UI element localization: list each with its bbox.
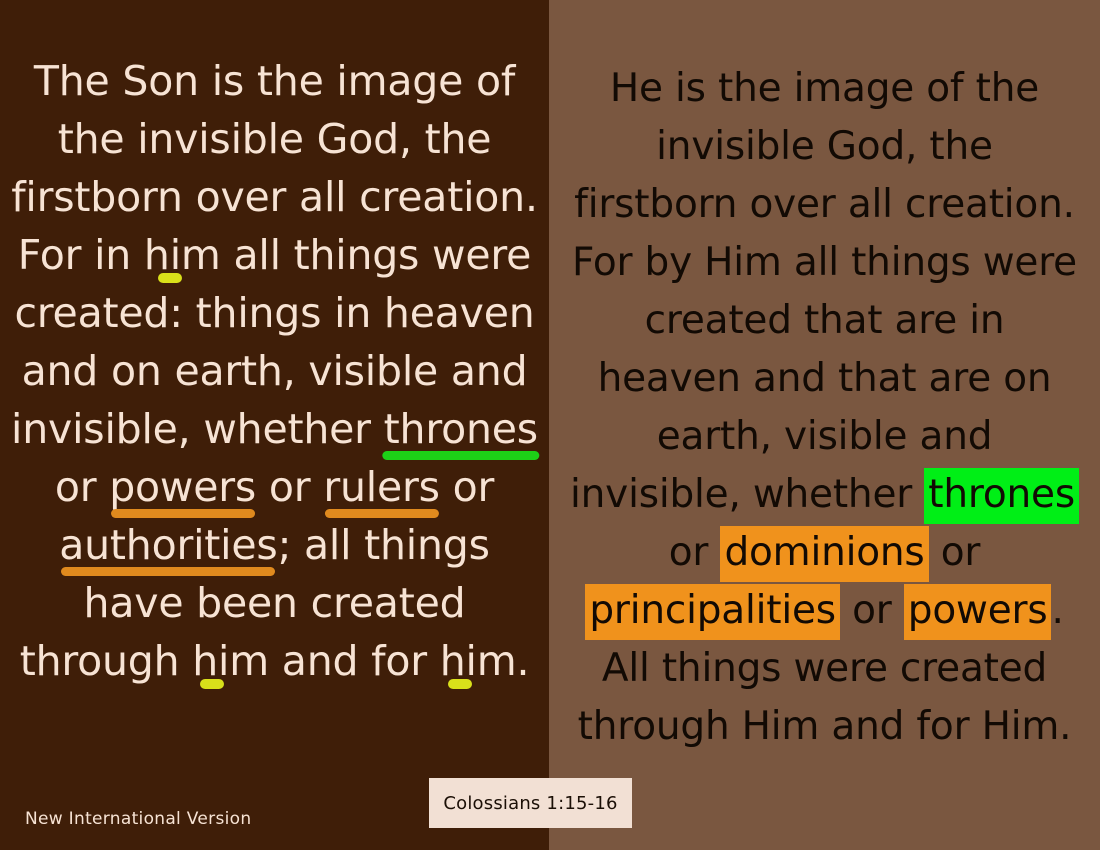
right-verse-text: He is the image of the invisible God, th… [549, 60, 1100, 756]
verse-comparison-slide: The Son is the image of the invisible Go… [0, 0, 1100, 850]
right-word-principalities: principalities [585, 584, 840, 640]
left-verse-part-5: . [516, 637, 529, 685]
left-word-authorities: authorities [59, 516, 277, 574]
left-word-rulers-label: rulers [323, 463, 439, 511]
left-word-him-2-label: him [192, 637, 269, 685]
left-word-him-3: him [440, 632, 517, 690]
right-verse-sep-1: or [669, 530, 721, 575]
right-word-thrones: thrones [924, 468, 1079, 524]
left-verse-text: The Son is the image of the invisible Go… [0, 52, 549, 690]
left-verse-part-4: and for [269, 637, 440, 685]
right-word-dominions: dominions [720, 526, 928, 582]
left-version-credit: New International Version [25, 809, 251, 829]
left-verse-sep-1: or [55, 463, 109, 511]
left-verse-sep-2: or [256, 463, 323, 511]
left-word-thrones-label: thrones [384, 405, 538, 453]
left-version-panel: The Son is the image of the invisible Go… [0, 0, 549, 850]
right-verse-sep-3: or [840, 588, 904, 633]
left-word-authorities-label: authorities [59, 521, 277, 569]
left-word-him-1-label: him [144, 231, 221, 279]
right-word-powers: powers [904, 584, 1052, 640]
left-word-him-2: him [192, 632, 269, 690]
left-word-rulers: rulers [323, 458, 439, 516]
scripture-reference-box: Colossians 1:15-16 [429, 778, 632, 828]
right-verse-sep-2: or [929, 530, 981, 575]
left-word-thrones: thrones [384, 400, 538, 458]
left-word-powers-label: powers [109, 463, 256, 511]
left-word-him-1: him [144, 226, 221, 284]
right-verse-part-1: He is the image of the invisible God, th… [570, 66, 1077, 517]
left-verse-sep-3: or [440, 463, 494, 511]
left-word-powers: powers [109, 458, 256, 516]
right-version-panel: He is the image of the invisible God, th… [549, 0, 1100, 850]
scripture-reference-label: Colossians 1:15-16 [443, 793, 617, 814]
left-word-him-3-label: him [440, 637, 517, 685]
